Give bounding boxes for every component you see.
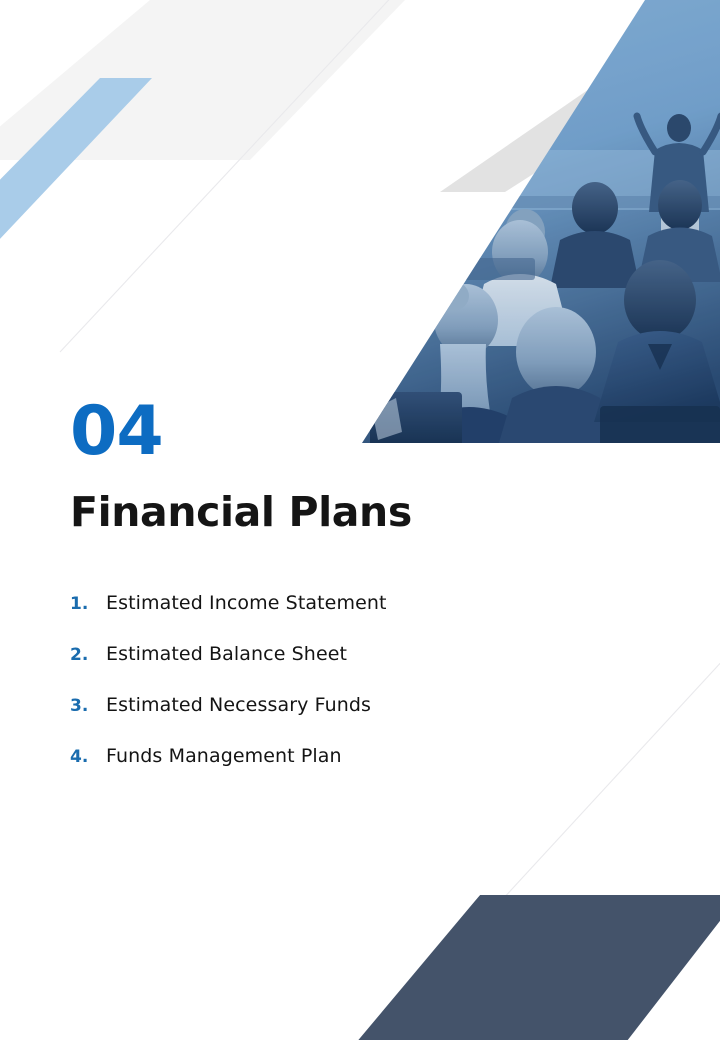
section-heading-block: 04 Financial Plans xyxy=(70,398,590,533)
list-item-number: 1. xyxy=(70,594,106,614)
list-item-number: 2. xyxy=(70,645,106,665)
list-item-label: Estimated Income Statement xyxy=(106,592,387,614)
list-item-label: Funds Management Plan xyxy=(106,745,342,767)
dark-slate-parallelogram xyxy=(350,895,720,1040)
page-title: Financial Plans xyxy=(70,492,590,533)
list-item-number: 3. xyxy=(70,696,106,716)
list-item[interactable]: 4. Funds Management Plan xyxy=(70,745,630,796)
list-item[interactable]: 3. Estimated Necessary Funds xyxy=(70,694,630,745)
list-item-number: 4. xyxy=(70,747,106,767)
list-item-label: Estimated Balance Sheet xyxy=(106,643,347,665)
list-item-label: Estimated Necessary Funds xyxy=(106,694,371,716)
section-number: 04 xyxy=(70,398,590,470)
list-item[interactable]: 1. Estimated Income Statement xyxy=(70,592,630,643)
list-item[interactable]: 2. Estimated Balance Sheet xyxy=(70,643,630,694)
topic-list: 1. Estimated Income Statement 2. Estimat… xyxy=(70,592,630,796)
slide-section-divider: 04 Financial Plans 1. Estimated Income S… xyxy=(0,0,720,1040)
